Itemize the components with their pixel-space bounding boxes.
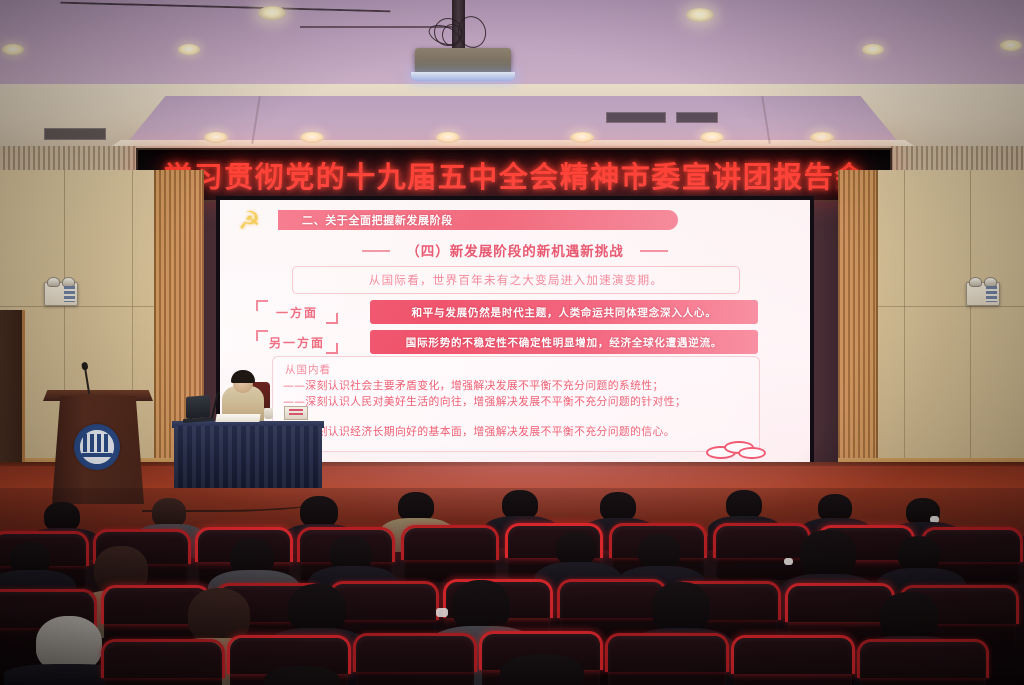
- slide-subsection-text: （四）新发展阶段的新机遇新挑战: [406, 244, 624, 260]
- air-vent-icon: [676, 112, 718, 123]
- recessed-downlight-icon: [862, 44, 884, 55]
- recessed-downlight-icon: [300, 132, 324, 143]
- aspect-tag-two-text: 另一方面: [269, 334, 325, 351]
- face-mask-icon: [436, 608, 448, 617]
- slide-section-heading: 二、关于全面把握新发展阶段: [278, 210, 678, 230]
- air-vent-icon: [44, 128, 106, 140]
- aspect-tag-two: 另一方面: [256, 330, 338, 354]
- aspect-tag-one-text: 一方面: [276, 304, 318, 321]
- aspect-bar-one-text: 和平与发展仍然是时代主题，人类命运共同体理念深入人心。: [411, 305, 716, 320]
- laptop-icon: [186, 395, 210, 419]
- audience-member: [652, 582, 710, 634]
- domestic-point-3: ——深刻认识经济长期向好的基本面，增强解决发展不平衡不充分问题的信心。: [283, 425, 749, 439]
- audience-member: [880, 592, 938, 642]
- dash-rule: [640, 250, 668, 252]
- side-door[interactable]: [0, 310, 25, 470]
- auditorium-seat: [860, 642, 986, 685]
- recessed-downlight-icon: [2, 44, 24, 55]
- face-mask-icon: [784, 558, 793, 565]
- auditorium-seat: [356, 636, 474, 685]
- emergency-lamp-head: [969, 277, 982, 287]
- auditorium-seat: [734, 638, 852, 685]
- audience-member: [288, 584, 346, 634]
- auditorium-seat: [404, 528, 496, 582]
- recessed-downlight-icon: [700, 132, 724, 143]
- auditorium-seat: [716, 526, 808, 580]
- audience-member: [500, 654, 584, 685]
- recessed-downlight-icon: [1000, 40, 1022, 51]
- recessed-downlight-icon: [436, 132, 460, 143]
- hammer-sickle-icon: ☭: [238, 208, 268, 234]
- slide-subsection-title: （四）新发展阶段的新机遇新挑战: [220, 240, 810, 260]
- fixture-grille: [986, 286, 997, 302]
- domestic-point-2: ——深刻认识人民对美好生活的向往，增强解决发展不平衡不充分问题的针对性；: [283, 395, 749, 409]
- fixture-grille: [64, 286, 75, 302]
- aspect-bar-two-text: 国际形势的不稳定性不确定性明显增加，经济全球化遭遇逆流。: [406, 335, 722, 350]
- international-outlook-box: 从国际看，世界百年未有之大变局进入加速演变期。: [292, 266, 740, 294]
- recessed-downlight-icon: [204, 132, 228, 143]
- ceiling-projector-icon: [415, 48, 511, 74]
- wall-panel-seam: [970, 170, 971, 470]
- audience-member: [452, 580, 510, 632]
- placard-text-lines: [289, 409, 303, 416]
- audience-member: [898, 536, 940, 572]
- institution-crest-icon: [74, 424, 120, 470]
- led-banner: 学习贯彻党的十九届五中全会精神市委宣讲团报告会: [136, 148, 892, 202]
- conference-hall-photo: 学习贯彻党的十九届五中全会精神市委宣讲团报告会 ☭ 二、关于全面把握新发展阶段 …: [0, 0, 1024, 685]
- international-outlook-text: 从国际看，世界百年未有之大变局进入加速演变期。: [369, 272, 663, 288]
- wall-panel-seam: [904, 170, 905, 470]
- recessed-downlight-icon: [178, 44, 200, 55]
- air-vent-icon: [606, 112, 666, 123]
- decorative-ribbon-icon: [708, 440, 766, 462]
- emergency-light-icon: [966, 282, 1000, 306]
- aspect-bar-two: 国际形势的不稳定性不确定性明显增加，经济全球化遭遇逆流。: [370, 330, 758, 354]
- recessed-downlight-icon: [810, 132, 834, 143]
- domestic-outlook-title: 从国内看: [285, 362, 331, 377]
- banner-title: 学习贯彻党的十九届五中全会精神市委宣讲团报告会: [138, 150, 890, 200]
- audience-member: [556, 532, 596, 566]
- emergency-light-icon: [44, 282, 78, 306]
- auditorium-seat: [608, 636, 726, 685]
- aspect-tag-one: 一方面: [256, 300, 338, 324]
- audience-member: [800, 530, 856, 578]
- acoustic-wood-slat-panel: [0, 146, 136, 170]
- water-cup-icon: [264, 408, 273, 419]
- documents-on-table: [215, 414, 260, 422]
- slide-section-heading-text: 二、关于全面把握新发展阶段: [278, 212, 453, 228]
- dash-rule: [362, 250, 390, 252]
- audience-member: [638, 534, 680, 570]
- speaker-hair: [231, 370, 255, 383]
- recessed-downlight-icon: [686, 8, 714, 22]
- head-table-skirt: [174, 426, 322, 488]
- recessed-downlight-icon: [258, 6, 286, 20]
- recessed-downlight-icon: [570, 132, 594, 143]
- acoustic-wood-slat-panel: [838, 170, 878, 470]
- domestic-outlook-card: 从国内看 ——深刻认识社会主要矛盾变化，增强解决发展不平衡不充分问题的系统性； …: [272, 356, 760, 452]
- name-placard: [284, 406, 308, 420]
- emergency-lamp-head: [47, 277, 60, 287]
- auditorium-seat: [104, 642, 222, 685]
- acoustic-wood-slat-panel: [888, 146, 1024, 170]
- domestic-point-1: ——深刻认识社会主要矛盾变化，增强解决发展不平衡不充分问题的系统性；: [283, 379, 749, 393]
- audience-member: [264, 666, 340, 685]
- projector-lens-icon: [465, 72, 481, 79]
- aspect-bar-one: 和平与发展仍然是时代主题，人类命运共同体理念深入人心。: [370, 300, 758, 324]
- audience-area: [0, 488, 1024, 685]
